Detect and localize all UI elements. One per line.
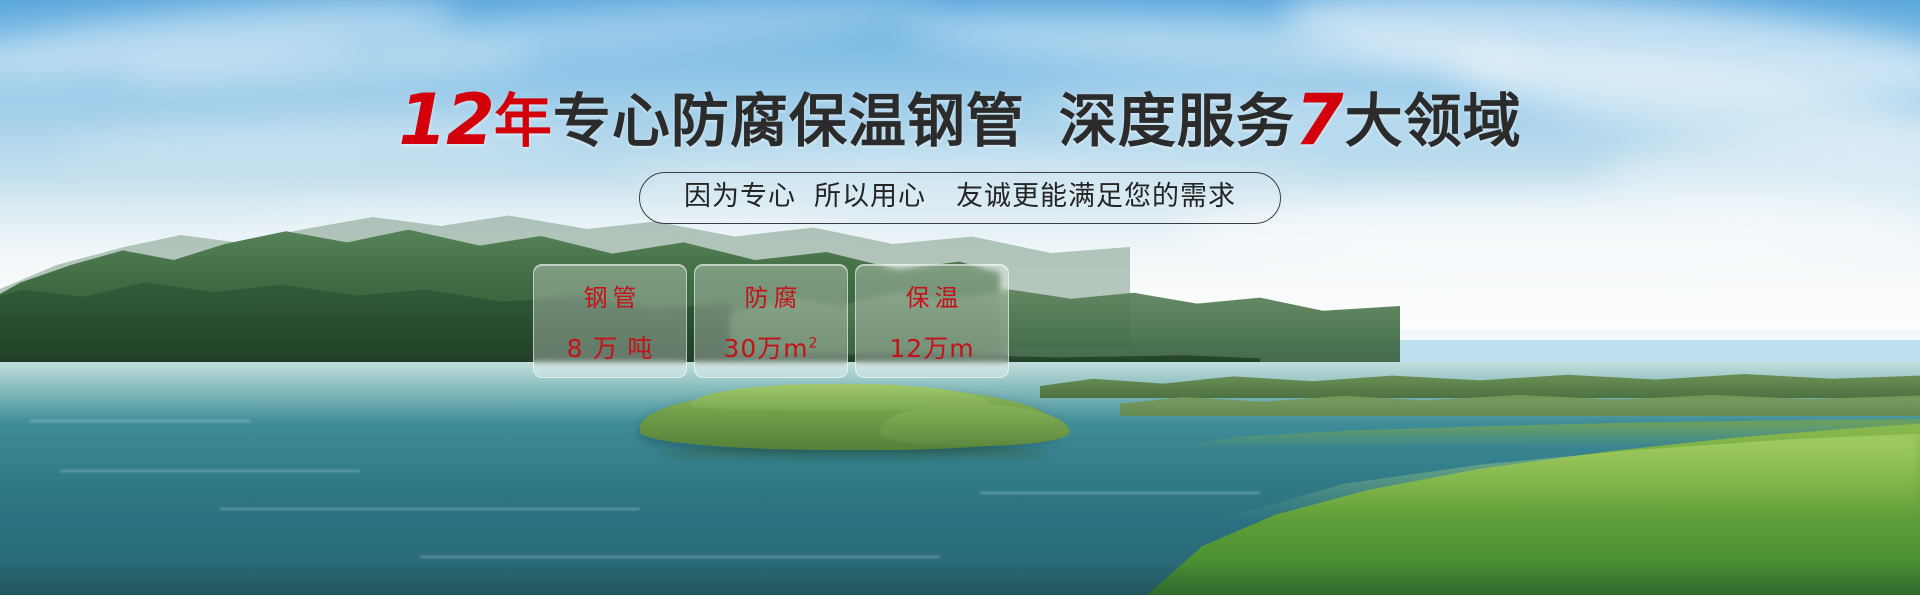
stat-card-value-exponent: 2	[809, 335, 819, 351]
stat-card-value-text: 12万m	[889, 334, 974, 363]
headline-fields-number: 7	[1295, 85, 1345, 155]
subtitle-part-3: 友诚更能满足您的需求	[956, 181, 1236, 212]
stat-card-value-text: 30万m	[723, 334, 808, 363]
banner-content: 12年专心防腐保温钢管深度服务7大领域 因为专心所以用心友诚更能满足您的需求 钢…	[0, 0, 1920, 595]
promo-banner: 12年专心防腐保温钢管深度服务7大领域 因为专心所以用心友诚更能满足您的需求 钢…	[0, 0, 1920, 595]
stat-card-title: 保温	[901, 278, 964, 313]
stat-card-value: 30万m2	[723, 329, 818, 365]
stat-card-value: 12万m	[889, 329, 974, 365]
subtitle-container: 因为专心所以用心友诚更能满足您的需求	[0, 172, 1920, 224]
stat-card-value: 8 万 吨	[567, 329, 654, 365]
headline-fields-text: 大领域	[1345, 87, 1522, 155]
stat-card-anticorrosion: 防腐 30万m2	[694, 264, 848, 378]
stat-card-value-text: 8 万 吨	[567, 334, 654, 363]
headline-main-text: 专心防腐保温钢管	[553, 87, 1025, 155]
stat-card-list: 钢管 8 万 吨 防腐 30万m2 保温 12万m	[533, 264, 1009, 378]
stat-card-title: 钢管	[579, 278, 642, 313]
subtitle-pill: 因为专心所以用心友诚更能满足您的需求	[639, 172, 1281, 224]
stat-card-insulation: 保温 12万m	[855, 264, 1009, 378]
subtitle-part-1: 因为专心	[684, 181, 796, 212]
headline-service-text: 深度服务	[1059, 87, 1295, 155]
subtitle-part-2: 所以用心	[814, 181, 926, 212]
headline-years-unit: 年	[494, 87, 553, 155]
headline: 12年专心防腐保温钢管深度服务7大领域	[0, 82, 1920, 152]
stat-card-steel-pipe: 钢管 8 万 吨	[533, 264, 687, 378]
stat-card-title: 防腐	[740, 278, 803, 313]
headline-years-number: 12	[398, 85, 493, 155]
